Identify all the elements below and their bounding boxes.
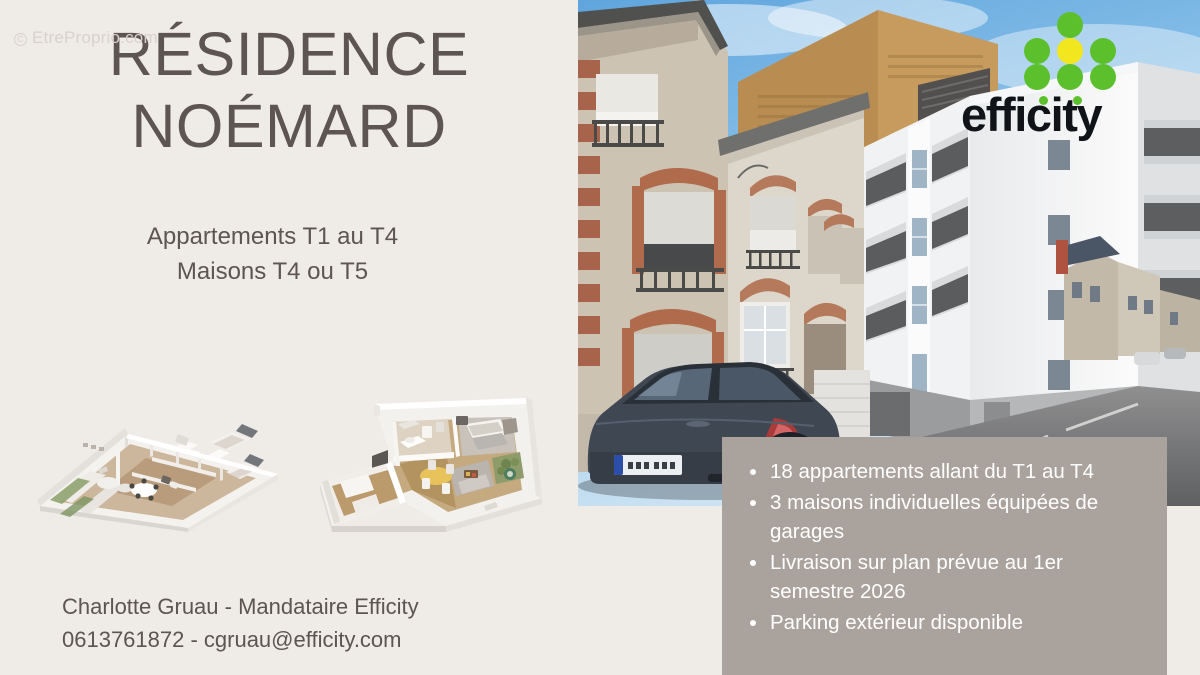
floor-plan-1-graphic	[20, 386, 290, 534]
efficity-wordmark: efficity	[961, 90, 1155, 140]
floor-plan-2-graphic	[296, 386, 564, 534]
logo-dot-bottom-left	[1024, 64, 1050, 90]
efficity-wordmark-text: efficity	[961, 88, 1101, 141]
floor-plan-render-1	[20, 386, 290, 534]
features-list: 18 appartements allant du T1 au T4 3 mai…	[748, 457, 1151, 637]
contact-phone-email[interactable]: 0613761872 - cgruau@efficity.com	[62, 623, 419, 656]
title-line-2: NOÉMARD	[0, 90, 578, 162]
logo-dot-mid-right	[1090, 38, 1116, 64]
floor-plan-render-2	[296, 386, 564, 534]
watermark: CEtreProprio.com	[14, 28, 158, 48]
subtitle: Appartements T1 au T4 Maisons T4 ou T5	[0, 219, 545, 289]
subtitle-line-1: Appartements T1 au T4	[0, 219, 545, 254]
watermark-label: EtreProprio.com	[32, 28, 158, 47]
logo-dot-top	[1057, 12, 1083, 38]
features-panel: 18 appartements allant du T1 au T4 3 mai…	[722, 437, 1167, 675]
contact-agent-name: Charlotte Gruau - Mandataire Efficity	[62, 590, 419, 623]
contact-info: Charlotte Gruau - Mandataire Efficity 06…	[62, 590, 419, 656]
efficity-logo-dots	[1007, 12, 1133, 88]
copyright-icon: C	[14, 33, 27, 46]
logo-i-dot-1	[1039, 96, 1048, 105]
logo-i-dot-2	[1073, 96, 1082, 105]
logo-dot-mid-left	[1024, 38, 1050, 64]
efficity-logo: efficity	[955, 12, 1155, 152]
feature-item: 3 maisons individuelles équipées de gara…	[748, 488, 1151, 547]
logo-dot-mid-center-accent	[1057, 38, 1083, 64]
feature-item: Parking extérieur disponible	[748, 608, 1151, 638]
subtitle-line-2: Maisons T4 ou T5	[0, 254, 545, 289]
feature-item: Livraison sur plan prévue au 1er semestr…	[748, 548, 1151, 607]
advert-canvas: CEtreProprio.com RÉSIDENCE NOÉMARD Appar…	[0, 0, 1200, 675]
feature-item: 18 appartements allant du T1 au T4	[748, 457, 1151, 487]
logo-dot-bottom-right	[1090, 64, 1116, 90]
logo-dot-bottom-center	[1057, 64, 1083, 90]
